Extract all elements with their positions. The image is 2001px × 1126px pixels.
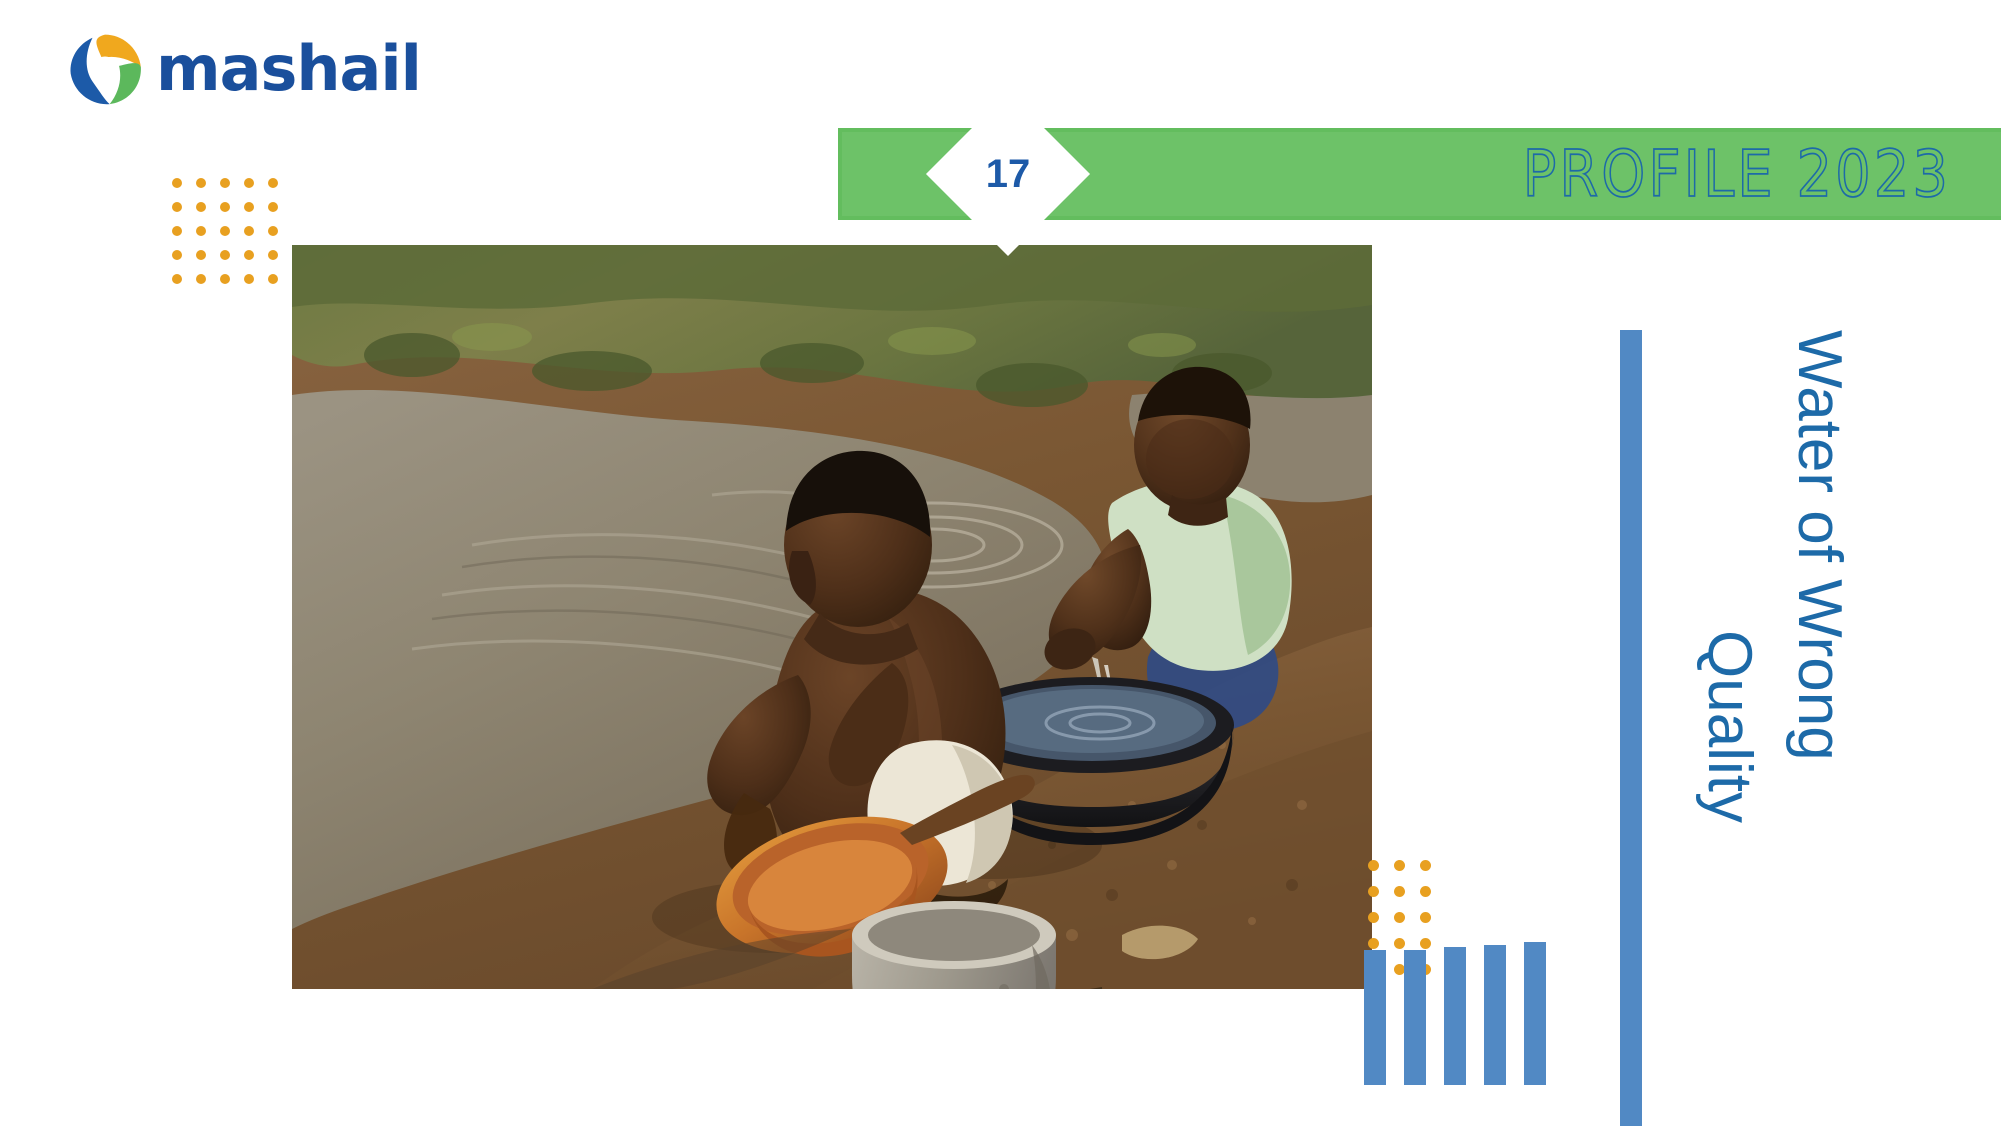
decorative-dot bbox=[172, 178, 182, 188]
decorative-dot bbox=[268, 250, 278, 260]
decorative-dot-grid-top-left bbox=[172, 178, 282, 290]
decorative-dot bbox=[268, 178, 278, 188]
decorative-dot bbox=[1420, 860, 1431, 871]
decorative-dot bbox=[220, 274, 230, 284]
decorative-dot bbox=[196, 202, 206, 212]
side-title-group: Water of Wrong Quality bbox=[1660, 330, 1860, 1030]
decorative-dot bbox=[1368, 912, 1379, 923]
decorative-dot bbox=[268, 274, 278, 284]
decorative-dot bbox=[1394, 860, 1405, 871]
decorative-dot bbox=[172, 250, 182, 260]
decorative-dot bbox=[172, 226, 182, 236]
decorative-dot bbox=[268, 226, 278, 236]
brand-logo[interactable]: mashail bbox=[66, 30, 396, 108]
slide-canvas: mashail bbox=[0, 0, 2001, 1126]
logo-wordmark: mashail bbox=[156, 38, 421, 100]
decorative-dot bbox=[220, 226, 230, 236]
decorative-dot bbox=[172, 274, 182, 284]
right-accent-bar bbox=[1620, 330, 1642, 1126]
decorative-dot bbox=[196, 250, 206, 260]
decorative-dot bbox=[244, 202, 254, 212]
decorative-dot bbox=[1420, 912, 1431, 923]
decorative-bar-1 bbox=[1364, 950, 1386, 1085]
decorative-dot bbox=[268, 202, 278, 212]
decorative-bar-5 bbox=[1524, 942, 1546, 1085]
decorative-dot bbox=[220, 250, 230, 260]
decorative-dot bbox=[196, 226, 206, 236]
decorative-bar-4 bbox=[1484, 945, 1506, 1085]
decorative-dot bbox=[172, 202, 182, 212]
decorative-dot bbox=[1420, 938, 1431, 949]
decorative-dot bbox=[1394, 886, 1405, 897]
decorative-dot bbox=[196, 274, 206, 284]
slide-photo bbox=[292, 245, 1372, 989]
decorative-dot bbox=[1368, 860, 1379, 871]
decorative-dot bbox=[1394, 912, 1405, 923]
decorative-dot bbox=[244, 250, 254, 260]
decorative-dot bbox=[1368, 938, 1379, 949]
decorative-dot bbox=[196, 178, 206, 188]
decorative-dot bbox=[1420, 886, 1431, 897]
side-title-line-1: Water of Wrong bbox=[1788, 330, 1850, 761]
decorative-bar-2 bbox=[1404, 950, 1426, 1085]
decorative-dot bbox=[220, 178, 230, 188]
decorative-bar-3 bbox=[1444, 947, 1466, 1085]
decorative-dot bbox=[1394, 938, 1405, 949]
decorative-dot bbox=[1368, 886, 1379, 897]
page-number: 17 bbox=[950, 116, 1066, 232]
profile-title: PROFILE 2023 bbox=[1523, 121, 1951, 227]
decorative-dot bbox=[244, 226, 254, 236]
side-title-line-2: Quality bbox=[1698, 630, 1760, 823]
mashail-swirl-icon bbox=[66, 30, 144, 108]
decorative-dot bbox=[220, 202, 230, 212]
decorative-dot bbox=[244, 274, 254, 284]
decorative-dot bbox=[244, 178, 254, 188]
